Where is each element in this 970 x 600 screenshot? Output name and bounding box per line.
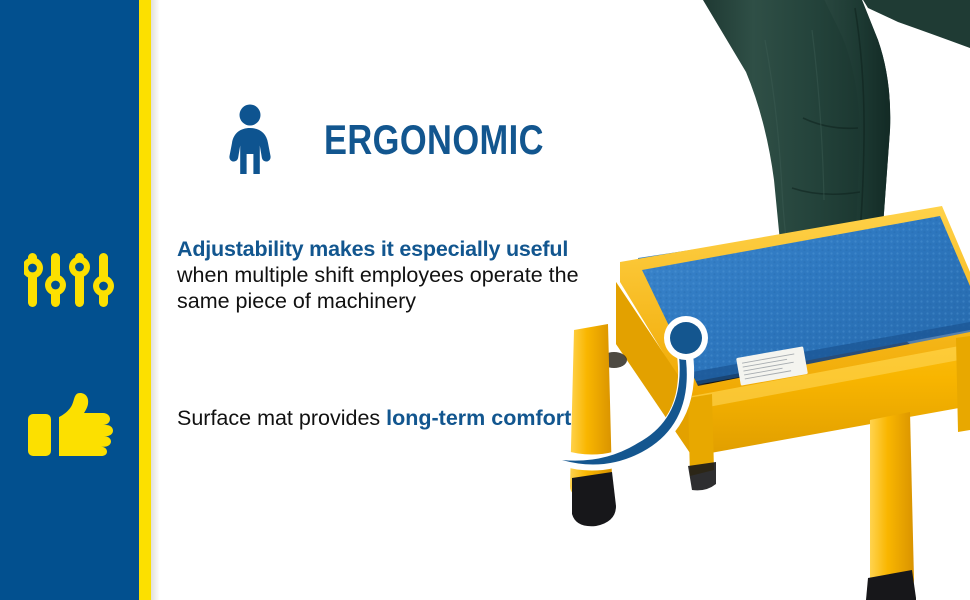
sidebar-drop-shadow [151, 0, 160, 600]
sliders-icon [24, 251, 116, 309]
work-platform-photo [560, 0, 970, 600]
ergonomic-feature-banner: ERGONOMIC Adjustability makes it especia… [0, 0, 970, 600]
platform-leg-front-right [870, 412, 914, 596]
rubber-foot-rear-left [688, 462, 716, 490]
person-icon [224, 104, 276, 176]
sidebar-item-adjustability [0, 238, 139, 322]
feature-paragraph-surface-mat: Surface mat provides long-term comfort [177, 405, 617, 431]
paragraph-lead: Adjustability makes it especially useful [177, 236, 607, 262]
feature-header: ERGONOMIC [224, 104, 592, 176]
sidebar-yellow-stripe [139, 0, 151, 600]
thumbs-up-icon [27, 392, 113, 458]
feature-paragraph-adjustability: Adjustability makes it especially useful… [177, 236, 607, 314]
callout-text-emphasis: long-term comfort [386, 406, 571, 430]
callout-text-plain: Surface mat provides [177, 406, 386, 430]
paragraph-body: when multiple shift employees operate th… [177, 262, 607, 314]
page-title: ERGONOMIC [324, 119, 544, 161]
sidebar-item-comfort [0, 382, 139, 468]
platform-leg-rear-right [956, 336, 970, 432]
platform-leg-front-left [570, 324, 612, 496]
rubber-foot-left [572, 472, 616, 526]
